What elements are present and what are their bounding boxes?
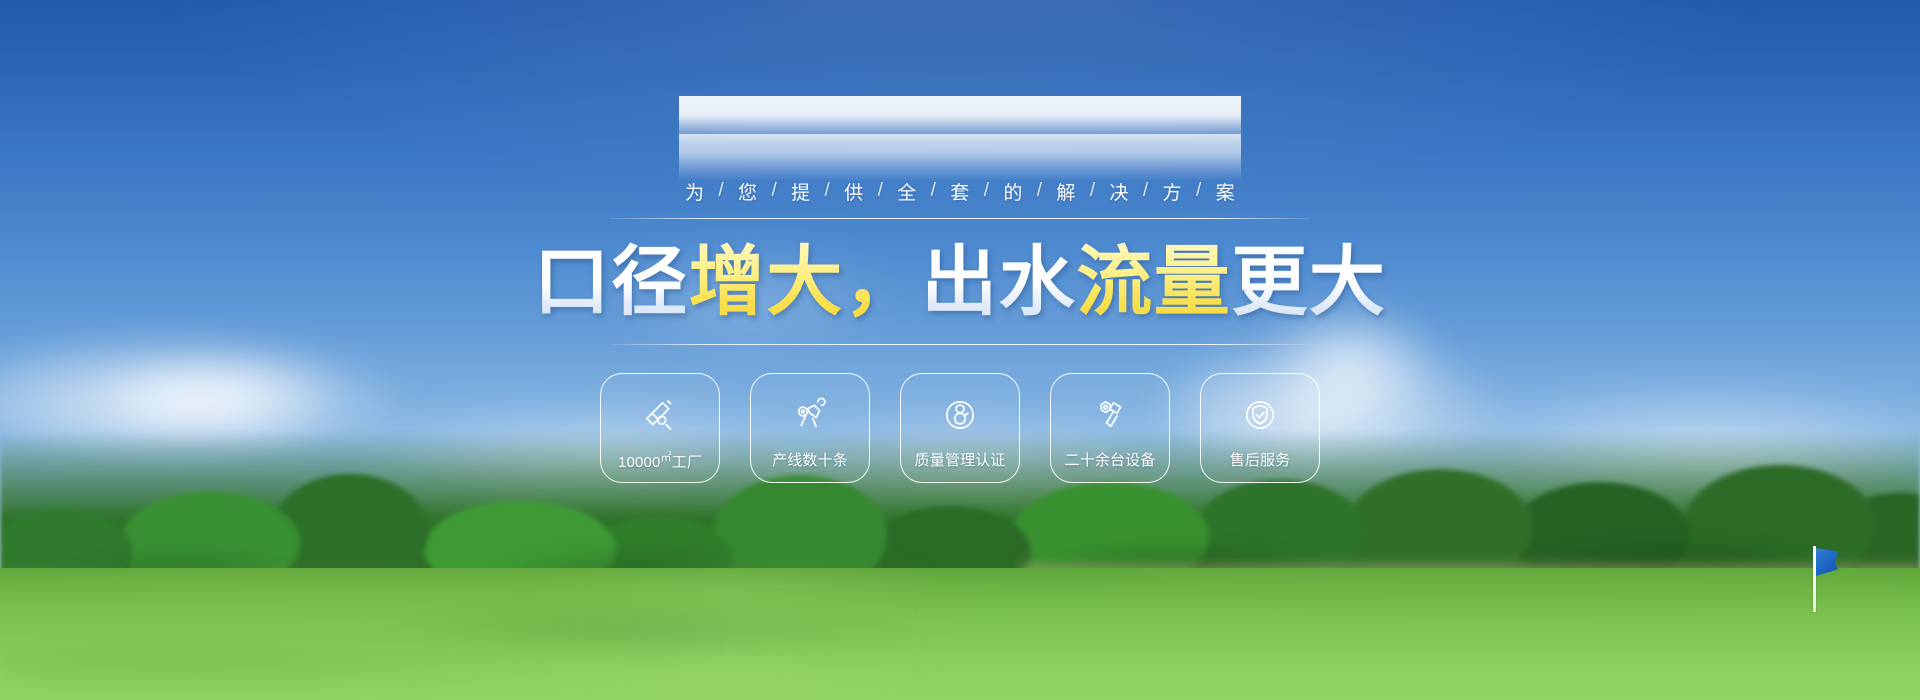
subtitle-separator: / [971, 180, 1003, 202]
subtitle-char: 为 [684, 178, 705, 205]
badge-label-unit: ㎡ [661, 452, 672, 464]
fairway-shading [0, 568, 1920, 700]
landscape-scene [0, 450, 1920, 700]
hero-banner: INTEGRATED SEWAGE TREATMENT 为 / 您 / 提 / … [0, 0, 1920, 700]
divider-bottom [610, 344, 1310, 345]
subtitle-char: 供 [843, 178, 864, 205]
subtitle-char: 方 [1162, 178, 1183, 205]
subtitle-char: 决 [1108, 178, 1129, 205]
hero-content: INTEGRATED SEWAGE TREATMENT 为 / 您 / 提 / … [0, 0, 1920, 483]
english-heading: INTEGRATED SEWAGE TREATMENT [679, 96, 1240, 180]
badge-factory[interactable]: 10000㎡工厂 [600, 373, 720, 483]
badge-label: 10000㎡工厂 [618, 449, 702, 472]
headline-segment-2: 增大， [689, 237, 922, 327]
subtitle-separator: / [865, 180, 897, 202]
mow-stripe [520, 568, 940, 700]
subtitle-separator: / [812, 180, 844, 202]
badge-label-suffix: 工厂 [672, 454, 702, 471]
subtitle-separator: / [918, 180, 950, 202]
subtitle-separator: / [1130, 180, 1162, 202]
badge-production-line[interactable]: 产线数十条 [750, 373, 870, 483]
badge-label: 售后服务 [1230, 449, 1291, 470]
subtitle-separator: / [1183, 180, 1215, 202]
badge-label: 质量管理认证 [915, 449, 1006, 470]
headline-segment-5: 更大 [1231, 237, 1386, 327]
english-line-2: SEWAGE TREATMENT [679, 134, 1240, 180]
subtitle-char: 解 [1055, 178, 1076, 205]
shield-check-icon [1239, 394, 1281, 436]
production-line-icon [789, 394, 831, 436]
quality-certificate-icon [939, 394, 981, 436]
equipment-icon [1089, 394, 1131, 436]
headline: 口径 增大， 出水 流量 更大 [534, 237, 1387, 327]
microscope-icon [639, 394, 681, 436]
divider-top [610, 218, 1310, 219]
headline-segment-4: 流量 [1076, 237, 1231, 327]
subtitle-char: 的 [1002, 178, 1023, 205]
subtitle-char: 提 [790, 178, 811, 205]
badge-label-prefix: 10000 [618, 454, 660, 471]
golf-flagpole [1813, 546, 1816, 612]
badge-label: 二十余台设备 [1065, 449, 1156, 470]
feature-badges: 10000㎡工厂 产线数十条 [600, 373, 1320, 483]
subtitle-separator: / [1024, 180, 1056, 202]
subtitle-char: 套 [949, 178, 970, 205]
subtitle-separator: / [705, 180, 737, 202]
subtitle-separator: / [758, 180, 790, 202]
subtitle-char: 全 [896, 178, 917, 205]
headline-segment-3: 出水 [921, 237, 1076, 327]
badge-quality-certificate[interactable]: 质量管理认证 [900, 373, 1020, 483]
badge-after-sales[interactable]: 售后服务 [1200, 373, 1320, 483]
subtitle-row: 为 / 您 / 提 / 供 / 全 / 套 / 的 / 解 / 决 / 方 / … [684, 178, 1236, 205]
subtitle-separator: / [1077, 180, 1109, 202]
badge-label: 产线数十条 [772, 449, 848, 470]
subtitle-char: 案 [1215, 178, 1236, 205]
subtitle-char: 您 [737, 178, 758, 205]
headline-segment-1: 口径 [534, 237, 689, 327]
badge-equipment[interactable]: 二十余台设备 [1050, 373, 1170, 483]
